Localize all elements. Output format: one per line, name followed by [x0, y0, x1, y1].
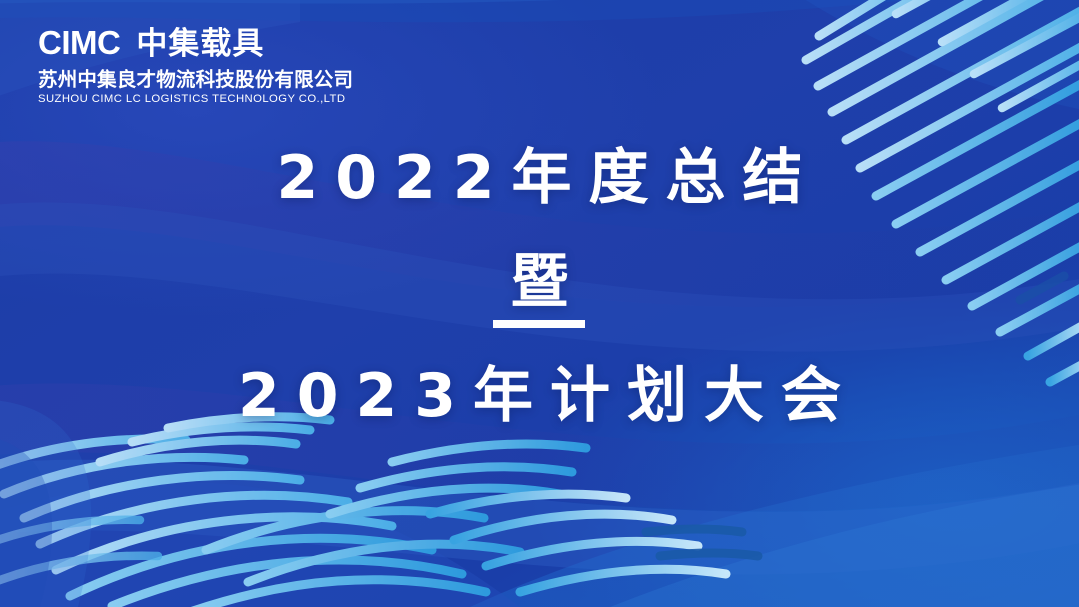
logo-brand-latin: CIMC — [38, 26, 120, 59]
logo-company-name-cn: 苏州中集良才物流科技股份有限公司 — [38, 69, 338, 90]
title-line-2022: 2022年度总结 — [0, 148, 1079, 208]
title-line-2023: 2023年计划大会 — [0, 366, 1079, 426]
company-logo: CIMC 中集载具 苏州中集良才物流科技股份有限公司 SUZHOU CIMC L… — [38, 26, 338, 106]
title-conjunction-underline — [493, 320, 585, 328]
logo-company-name-en: SUZHOU CIMC LC LOGISTICS TECHNOLOGY CO.,… — [38, 93, 338, 105]
title-conjunction-wrap: 暨 — [510, 252, 568, 320]
logo-primary-row: CIMC 中集载具 — [38, 26, 338, 60]
logo-brand-cn: 中集载具 — [136, 29, 264, 60]
presentation-slide: CIMC 中集载具 苏州中集良才物流科技股份有限公司 SUZHOU CIMC L… — [0, 0, 1079, 607]
slide-title-block: 2022年度总结 暨 2023年计划大会 — [0, 148, 1079, 426]
title-conjunction: 暨 — [510, 247, 568, 315]
